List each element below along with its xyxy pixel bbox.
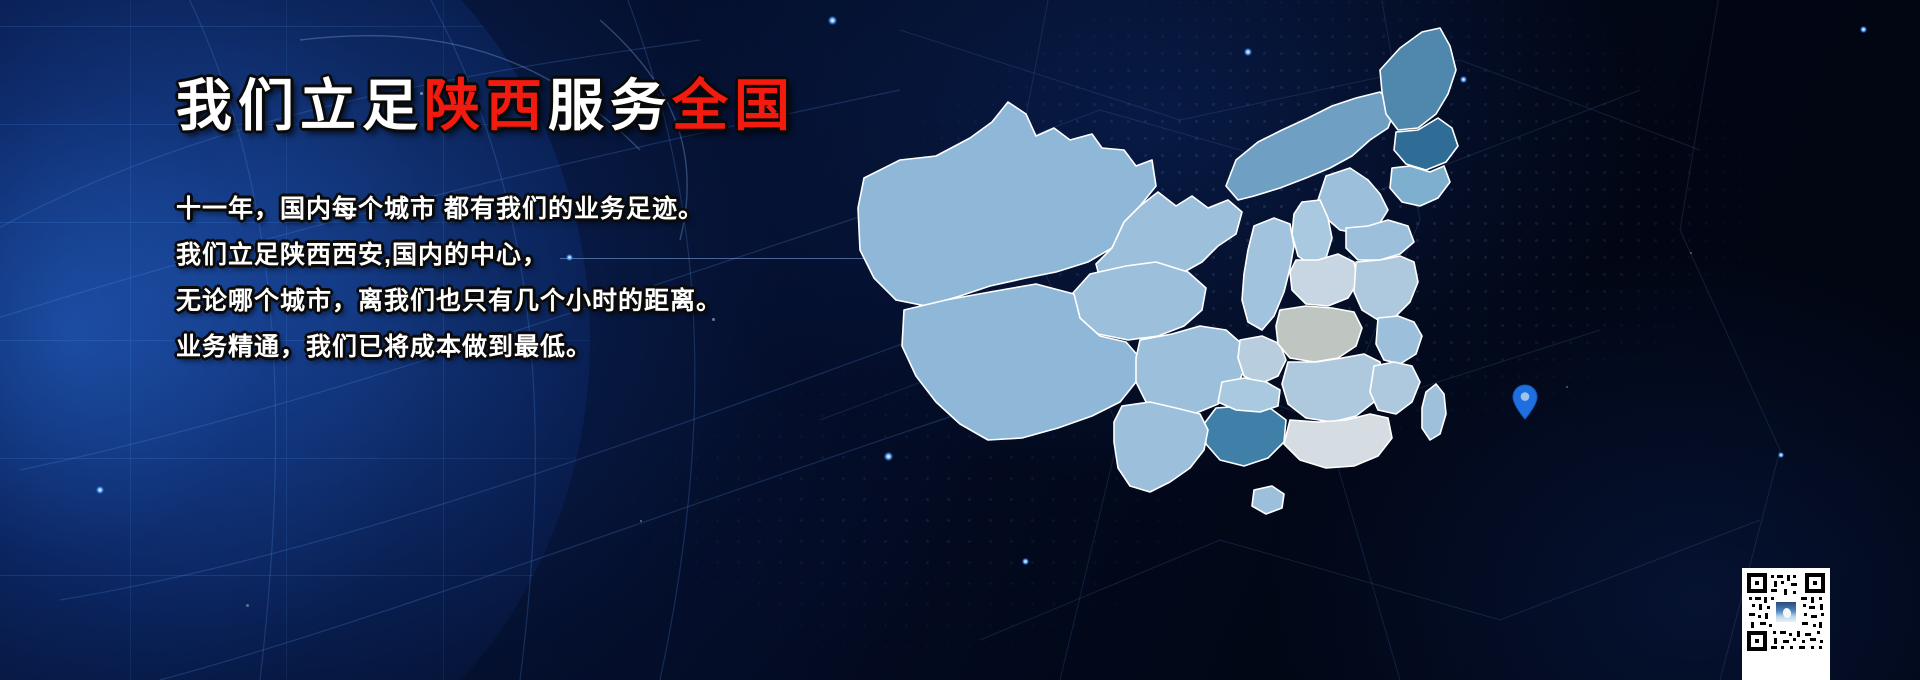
qr-center-logo (1774, 600, 1798, 624)
body-line-3: 无论哪个城市，离我们也只有几个小时的距离。 (176, 278, 896, 324)
copy-block: 我们立足陕西服务全国 十一年，国内每个城市 都有我们的业务足迹。 我们立足陕西西… (176, 78, 896, 370)
page-title: 我们立足陕西服务全国 (176, 78, 896, 134)
map-region-yunnan[interactable] (1114, 402, 1208, 492)
map-region-jiangsu-anhui[interactable] (1354, 256, 1418, 320)
qr-finder-top-left (1747, 573, 1767, 593)
qr-finder-bottom-left (1747, 631, 1767, 651)
promo-banner: 我们立足陕西服务全国 十一年，国内每个城市 都有我们的业务足迹。 我们立足陕西西… (0, 0, 1920, 680)
headline-segment-4-highlight: 全国 (672, 74, 796, 137)
headline-segment-1: 我们立足 (176, 74, 424, 137)
map-region-liaoning[interactable] (1390, 166, 1450, 206)
china-map-svg (840, 10, 1520, 570)
body-line-1: 十一年，国内每个城市 都有我们的业务足迹。 (176, 186, 896, 232)
map-region-guangxi[interactable] (1204, 406, 1286, 466)
china-map (840, 10, 1520, 570)
body-copy: 十一年，国内每个城市 都有我们的业务足迹。 我们立足陕西西安,国内的中心， 无论… (176, 186, 896, 370)
body-line-2: 我们立足陕西西安,国内的中心， (176, 232, 896, 278)
map-region-taiwan[interactable] (1422, 384, 1446, 440)
map-marker-xian[interactable] (1512, 384, 1538, 420)
headline-segment-3: 服务 (548, 74, 672, 137)
map-region-hainan[interactable] (1252, 486, 1284, 514)
headline-segment-2-highlight: 陕西 (424, 74, 548, 137)
qr-cells (1747, 573, 1825, 651)
map-region-heilongjiang[interactable] (1380, 28, 1456, 130)
map-region-guangdong[interactable] (1284, 414, 1392, 468)
map-region-fujian[interactable] (1370, 362, 1420, 414)
map-region-hunan-jiangxi[interactable] (1282, 354, 1384, 422)
qr-code[interactable] (1742, 568, 1830, 680)
map-region-guizhou[interactable] (1218, 378, 1280, 412)
body-line-4: 业务精通，我们已将成本做到最低。 (176, 324, 896, 370)
map-region-hubei[interactable] (1276, 306, 1362, 362)
qr-finder-top-right (1805, 573, 1825, 593)
map-region-zhejiang[interactable] (1376, 316, 1422, 364)
map-region-henan[interactable] (1290, 254, 1358, 306)
location-pin-icon (1512, 384, 1538, 420)
